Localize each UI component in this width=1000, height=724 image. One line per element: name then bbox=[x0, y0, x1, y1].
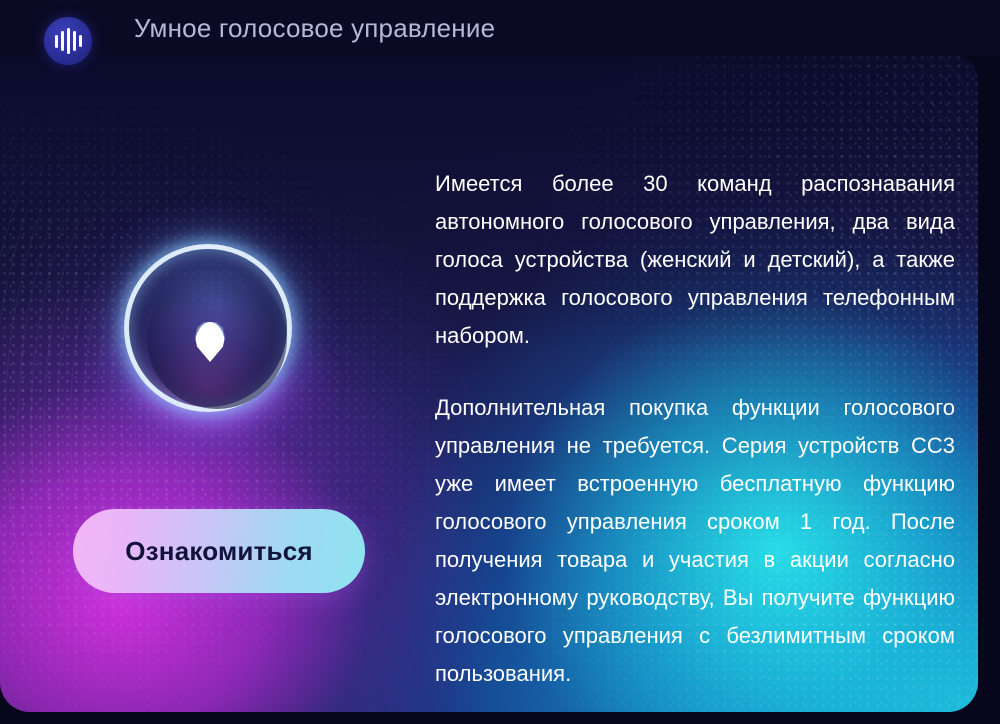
learn-more-button-label: Ознакомиться bbox=[125, 536, 313, 567]
content-card: Ознакомиться Имеется более 30 команд рас… bbox=[0, 53, 978, 712]
learn-more-button[interactable]: Ознакомиться bbox=[73, 509, 365, 593]
description-paragraph-1: Имеется более 30 команд распознавания ав… bbox=[435, 165, 955, 355]
waveform-bar-1 bbox=[55, 35, 58, 48]
waveform-bar-2 bbox=[61, 31, 64, 51]
waveform-bar-3 bbox=[67, 28, 70, 54]
waveform-bar-4 bbox=[73, 31, 76, 51]
description-text-column: Имеется более 30 команд распознавания ав… bbox=[435, 165, 955, 693]
voice-waveform-icon bbox=[44, 17, 92, 65]
header-bar: Умное голосовое управление bbox=[0, 0, 1000, 56]
slide-root: Ознакомиться Имеется более 30 команд рас… bbox=[0, 0, 1000, 724]
description-paragraph-2: Дополнительная покупка функции голосовог… bbox=[435, 389, 955, 693]
voice-assistant-orb bbox=[120, 238, 300, 423]
page-title: Умное голосовое управление bbox=[134, 0, 495, 56]
waveform-bar-5 bbox=[79, 35, 82, 47]
